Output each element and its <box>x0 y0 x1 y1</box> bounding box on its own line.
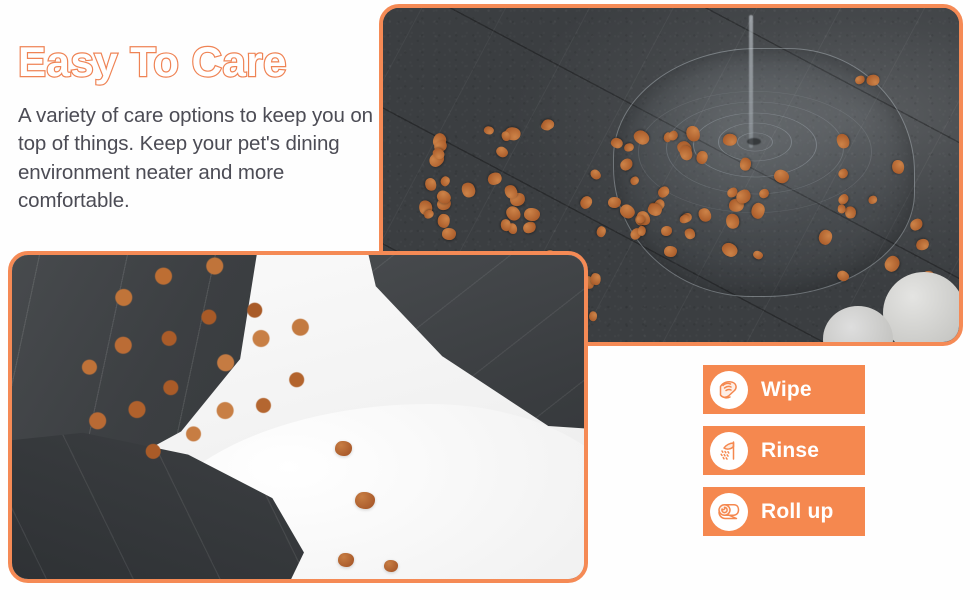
falling-kibble <box>355 492 375 509</box>
kibble-piece <box>757 187 770 200</box>
kibble-piece <box>752 249 764 260</box>
kibble-piece <box>629 175 641 187</box>
kibble-piece <box>442 228 456 240</box>
kibble-piece <box>697 206 714 224</box>
kibble-piece <box>696 150 709 164</box>
feature-badge-label: Wipe <box>761 378 812 402</box>
kibble-piece <box>844 206 856 220</box>
kibble-piece <box>610 137 624 150</box>
feature-badge-label: Roll up <box>761 500 834 524</box>
kibble-piece <box>588 311 597 321</box>
kibble-piece <box>740 158 751 171</box>
rolled-mat-icon <box>710 493 748 531</box>
kibble-piece <box>608 197 622 209</box>
kibble-piece <box>423 176 438 192</box>
kibble-piece <box>915 237 931 252</box>
promo-banner: Easy To Care A variety of care options t… <box>0 0 970 600</box>
kibble-piece <box>664 246 677 257</box>
kibble-piece <box>522 220 539 236</box>
kibble-piece <box>720 240 740 259</box>
kibble-piece <box>660 225 673 236</box>
feature-badge-label: Rinse <box>761 439 819 463</box>
kibble-piece <box>836 269 851 284</box>
kibble-piece <box>590 272 601 284</box>
wipe-hand-cloth-icon <box>710 371 748 409</box>
feature-badge-rinse[interactable]: Rinse <box>703 426 865 475</box>
shower-head-icon <box>710 432 748 470</box>
kibble-piece <box>854 75 866 86</box>
kibble-piece <box>678 144 695 162</box>
kibble-piece <box>684 123 702 143</box>
kibble-piece <box>882 254 901 274</box>
kibble-piece <box>835 132 852 150</box>
kibble-piece <box>439 175 451 188</box>
kibble-piece <box>656 184 671 199</box>
photo-panel-roll-pour <box>8 251 588 583</box>
kibble-piece <box>623 142 635 153</box>
kibble-piece <box>638 226 647 236</box>
photo-mat-funnel-pouring-kibble <box>12 255 584 579</box>
kibble-piece <box>723 133 737 146</box>
kibble-piece <box>460 181 477 199</box>
kibble-piece <box>891 159 905 175</box>
falling-kibble <box>338 553 354 567</box>
kibble-piece <box>596 226 607 238</box>
kibble-piece <box>483 125 494 135</box>
kibble-piece <box>632 128 652 147</box>
kibble-piece <box>524 208 540 222</box>
kibble-piece <box>908 216 925 233</box>
feature-badge-roll-up[interactable]: Roll up <box>703 487 865 536</box>
text-block: Easy To Care A variety of care options t… <box>14 40 386 215</box>
kibble-piece <box>438 214 450 228</box>
kibble-piece <box>725 212 740 229</box>
feature-badge-list: Wipe Rinse <box>703 365 865 536</box>
body-copy: A variety of care options to keep you on… <box>18 102 386 215</box>
kibble-piece <box>837 204 846 214</box>
kibble-piece <box>579 194 595 211</box>
kibble-piece <box>773 167 792 184</box>
kibble-piece <box>683 227 697 242</box>
kibble-piece <box>837 166 850 179</box>
falling-kibble <box>384 560 398 572</box>
kibble-piece <box>486 171 503 187</box>
kibble-piece <box>617 202 636 221</box>
page-title: Easy To Care <box>18 40 386 84</box>
kibble-piece <box>866 75 880 87</box>
kibble-piece <box>588 168 603 182</box>
kibble-piece <box>750 202 766 220</box>
kibble-piece <box>618 156 635 173</box>
kibble-piece <box>494 145 509 160</box>
kibble-piece <box>817 229 833 247</box>
feature-badge-wipe[interactable]: Wipe <box>703 365 865 414</box>
kibble-piece <box>867 195 879 207</box>
